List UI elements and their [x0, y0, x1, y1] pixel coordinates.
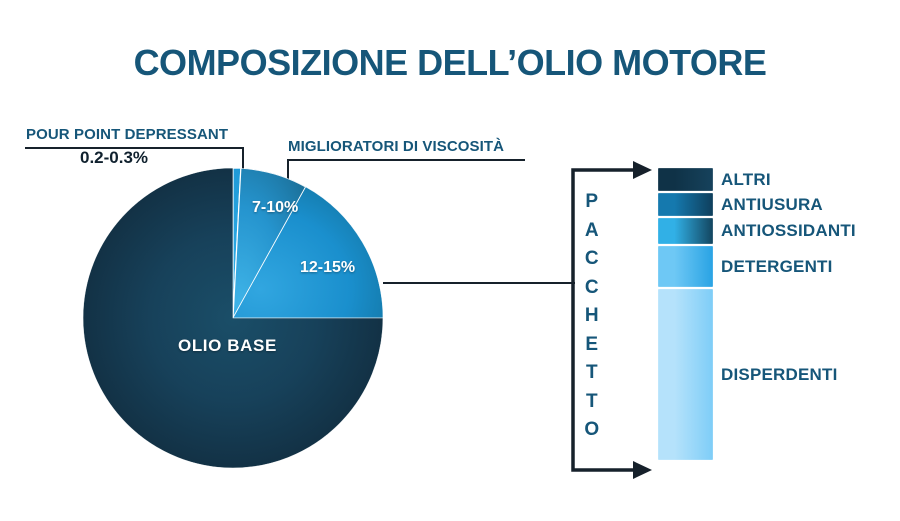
pacchetto-letter: E: [578, 331, 606, 360]
pie-label-additive-package: 12-15%: [300, 259, 355, 277]
callout-pour-point-title: POUR POINT DEPRESSANT: [26, 126, 228, 143]
pacchetto-letter: O: [578, 416, 606, 445]
pacchetto-bracket: [560, 160, 660, 480]
stack-segment: [658, 246, 713, 287]
pie-slices: [83, 168, 383, 468]
stack-segment-label: DETERGENTI: [721, 257, 833, 277]
pour-point-leader-horizontal: [25, 147, 244, 149]
infographic-canvas: COMPOSIZIONE DELL’OLIO MOTORE POUR POINT…: [0, 0, 900, 521]
composition-pie-chart: [83, 168, 383, 468]
bracket-arrow-top-icon: [633, 161, 652, 179]
pie-svg: [83, 168, 383, 468]
pacchetto-letter: T: [578, 359, 606, 388]
stack-segment-label: ANTIUSURA: [721, 195, 823, 215]
pacchetto-letter: C: [578, 245, 606, 274]
callout-pour-point-value: 0.2-0.3%: [80, 148, 148, 168]
pacchetto-vertical-label: PACCHETTO: [578, 188, 606, 445]
pie-label-viscosity: 7-10%: [252, 199, 298, 217]
page-title: COMPOSIZIONE DELL’OLIO MOTORE: [0, 42, 900, 84]
viscosity-leader-horizontal: [287, 159, 525, 161]
stack-segment: [658, 289, 713, 460]
bracket-arrow-bottom-icon: [633, 461, 652, 479]
stack-segment-label: ALTRI: [721, 170, 771, 190]
pacchetto-letter: T: [578, 388, 606, 417]
pacchetto-letter: C: [578, 274, 606, 303]
stack-segment-label: DISPERDENTI: [721, 365, 838, 385]
pacchetto-letter: A: [578, 217, 606, 246]
stack-segment: [658, 218, 713, 244]
pacchetto-letter: P: [578, 188, 606, 217]
stack-segment-label: ANTIOSSIDANTI: [721, 221, 856, 241]
pacchetto-letter: H: [578, 302, 606, 331]
pie-label-base-oil: OLIO BASE: [178, 336, 277, 356]
stack-segment: [658, 193, 713, 216]
callout-viscosity-title: MIGLIORATORI DI VISCOSITÀ: [288, 138, 504, 155]
pie-to-bracket-connector: [383, 282, 575, 284]
stack-segment: [658, 168, 713, 191]
additive-package-stacked-bar: [658, 168, 713, 471]
